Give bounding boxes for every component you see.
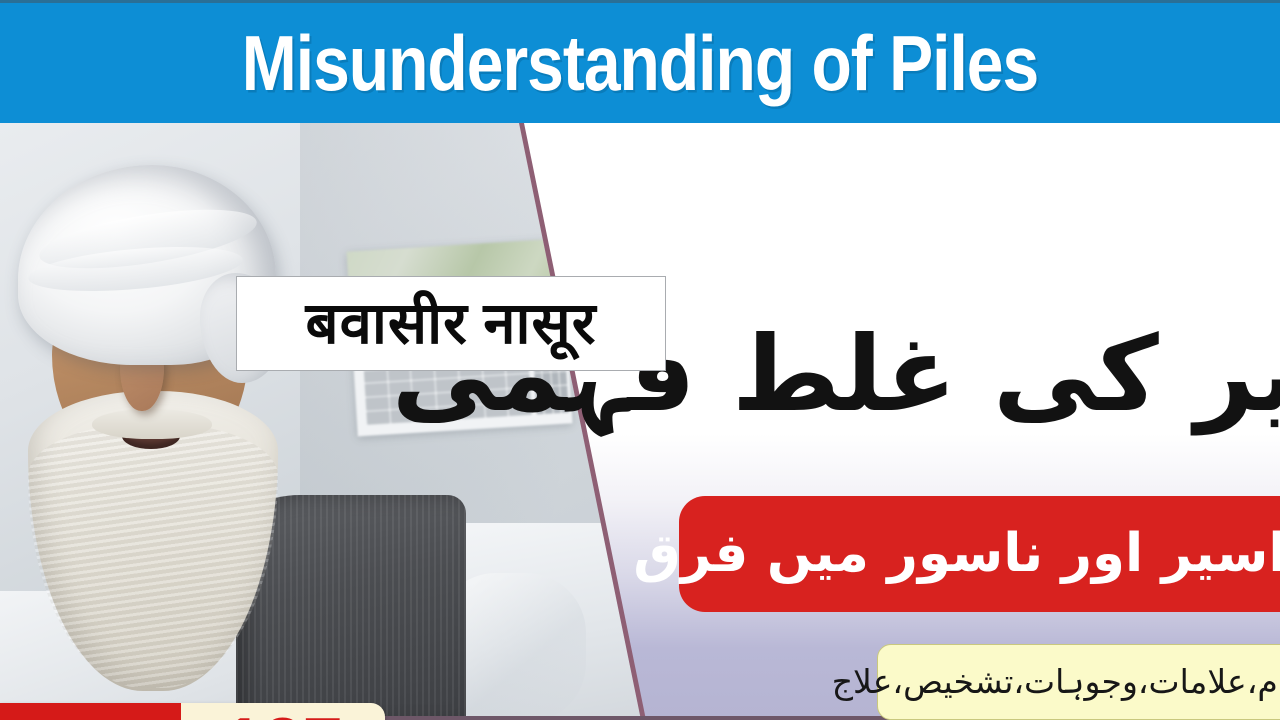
yellow-topics-box: اقسام،علامات،وجوہات،تشخیص،علاج bbox=[877, 644, 1280, 720]
video-badge-label: Video# bbox=[0, 703, 181, 720]
yellow-topics-text: اقسام،علامات،وجوہات،تشخیص،علاج bbox=[832, 657, 1280, 707]
urdu-main-title: بواسیر کی غلط فہمی bbox=[660, 269, 1276, 479]
hindi-title-box: बवासीर नासूर bbox=[236, 276, 666, 371]
header-banner: Misunderstanding of Piles bbox=[0, 0, 1280, 123]
presenter-mustache bbox=[92, 409, 212, 439]
video-badge-number-text: 127 bbox=[223, 707, 343, 720]
red-subtitle-text: بواسیر اور ناسور میں فرق bbox=[633, 516, 1280, 593]
red-subtitle-banner: بواسیر اور ناسور میں فرق bbox=[679, 496, 1280, 612]
hindi-title-text: बवासीर नासूर bbox=[306, 295, 597, 353]
page-title: Misunderstanding of Piles bbox=[242, 24, 1038, 102]
video-thumbnail: Misunderstanding of Piles bbox=[0, 0, 1280, 720]
video-badge-number: 127 bbox=[181, 703, 385, 720]
video-number-badge: Video# 127 bbox=[0, 703, 385, 720]
content-stage: बवासीर नासूर بواسیر کی غلط فہمی بواسیر ا… bbox=[0, 123, 1280, 720]
